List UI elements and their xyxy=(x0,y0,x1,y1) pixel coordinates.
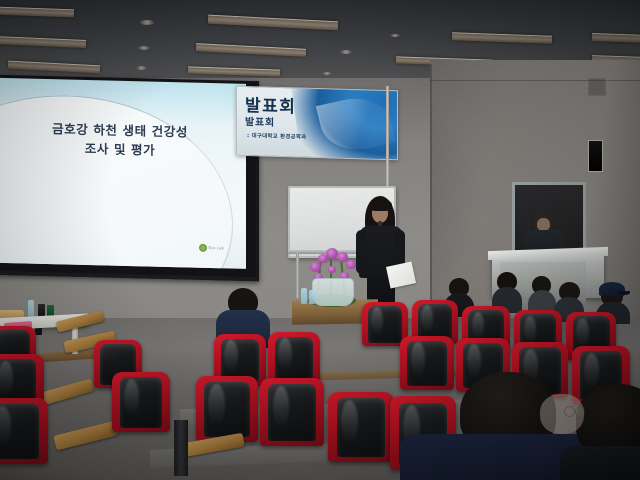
seat-highlight xyxy=(576,318,589,348)
water-bottle xyxy=(309,290,315,304)
seat-highlight xyxy=(224,340,238,372)
cap-brim xyxy=(618,291,630,295)
ceiling-downlight xyxy=(390,34,400,37)
banner-organization: : 대구대학교 환경공학과 xyxy=(247,131,306,141)
flower-vase xyxy=(312,278,354,306)
auditorium-seat[interactable] xyxy=(268,332,320,384)
ceiling-downlight xyxy=(136,66,147,70)
orchid-bloom xyxy=(310,262,321,272)
projection-screen: 금호강 하천 생태 건강성 조사 및 평가 Eco Lab xyxy=(0,75,259,281)
wall-panel xyxy=(588,78,606,96)
ceiling-downlight xyxy=(322,72,332,75)
seat-highlight xyxy=(124,379,139,416)
auditorium-seat[interactable] xyxy=(196,376,258,442)
photo-scene: 금호강 하천 생태 건강성 조사 및 평가 Eco Lab 발표회 발표회 : … xyxy=(0,0,640,480)
slide-logo-text: Eco Lab xyxy=(209,246,224,250)
left-arm xyxy=(356,230,367,274)
seat-highlight xyxy=(411,342,425,375)
whiteboard-leg xyxy=(296,252,299,298)
wall-seam xyxy=(430,64,432,324)
seat-highlight xyxy=(421,305,433,332)
audience-member xyxy=(540,394,594,454)
seat-highlight xyxy=(524,316,536,345)
water-bottle xyxy=(28,300,34,318)
wall-seam xyxy=(430,80,640,81)
ceiling-downlight xyxy=(138,46,150,50)
seat-highlight xyxy=(208,384,224,425)
auditorium-seat[interactable] xyxy=(260,378,324,446)
head xyxy=(540,394,584,434)
ceiling-downlight xyxy=(340,50,352,54)
banner-support-pole xyxy=(386,86,389,186)
auditorium-seat[interactable] xyxy=(0,398,48,464)
banner-subheading: 발표회 xyxy=(245,113,275,129)
orchid-bloom xyxy=(328,266,336,273)
slide-logo: Eco Lab xyxy=(199,244,224,253)
event-banner: 발표회 발표회 : 대구대학교 환경공학과 xyxy=(236,86,398,161)
hair-fringe xyxy=(369,199,392,211)
presenter xyxy=(356,196,408,312)
wall-speaker xyxy=(588,140,603,172)
ceiling-downlight xyxy=(140,20,154,25)
projection-screen-surface: 금호강 하천 생태 건강성 조사 및 평가 Eco Lab xyxy=(0,78,246,269)
auditorium-seat[interactable] xyxy=(328,392,394,462)
water-bottle xyxy=(301,288,307,304)
seat-highlight xyxy=(371,307,383,334)
slide-title: 금호강 하천 생태 건강성 조사 및 평가 xyxy=(0,118,246,162)
seat-support-post xyxy=(174,420,188,476)
audience-member xyxy=(528,276,556,314)
leaf-icon xyxy=(199,244,207,252)
orchid-bloom xyxy=(346,260,356,269)
auditorium-seat[interactable] xyxy=(112,372,170,432)
seat-highlight xyxy=(278,338,292,370)
seat-highlight xyxy=(472,312,484,341)
